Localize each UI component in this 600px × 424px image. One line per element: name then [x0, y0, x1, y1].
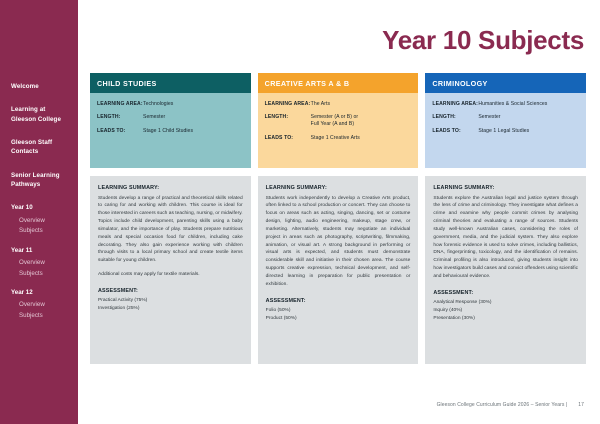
- subject-body: LEARNING SUMMARY: Students develop a ran…: [90, 176, 251, 364]
- sidebar-item-year-12-overview[interactable]: Overview: [19, 300, 78, 309]
- assessment-item: Product (50%): [266, 315, 411, 323]
- meta-label-length: LENGTH:: [432, 114, 478, 121]
- meta-label-learning-area: LEARNING AREA:: [432, 101, 478, 108]
- meta-label-learning-area: LEARNING AREA:: [265, 101, 311, 108]
- learning-summary-label: LEARNING SUMMARY:: [433, 185, 578, 191]
- sidebar-nav: Welcome Learning at Gleeson College Glee…: [0, 0, 78, 424]
- meta-label-length: LENGTH:: [97, 114, 143, 121]
- assessment-item: Presentation (30%): [433, 315, 578, 323]
- subject-body: LEARNING SUMMARY: Students explore the A…: [425, 176, 586, 364]
- sidebar-item-learning-at-gleeson-college[interactable]: Learning at Gleeson College: [11, 105, 78, 124]
- subject-card-header: CRIMINOLOGY: [425, 73, 586, 93]
- sidebar-item-gleeson-staff-contacts[interactable]: Gleeson Staff Contacts: [11, 138, 78, 157]
- footer-page-number: 17: [578, 402, 584, 408]
- meta-row-leads-to: LEADS TO: Stage 1 Creative Arts: [265, 135, 412, 142]
- learning-summary-label: LEARNING SUMMARY:: [266, 185, 411, 191]
- sidebar-group-year-11: Year 11 Overview Subjects: [11, 246, 78, 278]
- sidebar-item-year-10[interactable]: Year 10: [11, 203, 78, 212]
- assessment-label: ASSESSMENT:: [98, 288, 243, 294]
- learning-summary-text: Students explore the Australian legal an…: [433, 195, 578, 281]
- meta-value-length: Semester: [478, 114, 500, 121]
- sidebar-group-year-10: Year 10 Overview Subjects: [11, 203, 78, 235]
- sidebar-item-year-12-subjects[interactable]: Subjects: [19, 311, 78, 320]
- assessment-label: ASSESSMENT:: [433, 290, 578, 296]
- subject-columns: CHILD STUDIES LEARNING AREA: Technologie…: [90, 73, 586, 364]
- meta-row-leads-to: LEADS TO: Stage 1 Legal Studies: [432, 128, 579, 135]
- sidebar-top-items: Welcome Learning at Gleeson College Glee…: [11, 82, 78, 190]
- meta-row-length: LENGTH: Semester (A or B) or Full Year (…: [265, 114, 412, 128]
- sidebar-item-year-10-subjects[interactable]: Subjects: [19, 226, 78, 235]
- meta-value-length: Semester (A or B) or Full Year (A and B): [311, 114, 358, 128]
- meta-row-length: LENGTH: Semester: [432, 114, 579, 121]
- meta-value-leads-to: Stage 1 Creative Arts: [311, 135, 360, 142]
- subject-card-criminology: CRIMINOLOGY LEARNING AREA: Humanities & …: [425, 73, 586, 364]
- meta-row-leads-to: LEADS TO: Stage 1 Child Studies: [97, 128, 244, 135]
- footer-text: Gleeson College Curriculum Guide 2026 – …: [437, 402, 568, 408]
- meta-value-leads-to: Stage 1 Legal Studies: [478, 128, 529, 135]
- meta-value-learning-area: Technologies: [143, 101, 173, 108]
- main-content: Year 10 Subjects CHILD STUDIES LEARNING …: [78, 0, 600, 424]
- meta-row-learning-area: LEARNING AREA: Technologies: [97, 101, 244, 108]
- learning-summary-text: Students work independently to develop a…: [266, 195, 411, 289]
- subject-card-header: CHILD STUDIES: [90, 73, 251, 93]
- meta-row-length: LENGTH: Semester: [97, 114, 244, 121]
- sidebar-item-year-11[interactable]: Year 11: [11, 246, 78, 255]
- learning-summary-label: LEARNING SUMMARY:: [98, 185, 243, 191]
- page-title: Year 10 Subjects: [90, 0, 586, 53]
- meta-value-leads-to: Stage 1 Child Studies: [143, 128, 193, 135]
- learning-summary-text: Students develop a range of practical an…: [98, 195, 243, 266]
- assessment-item: Investigation (25%): [98, 305, 243, 313]
- sidebar-item-senior-learning-pathways[interactable]: Senior Learning Pathways: [11, 171, 78, 190]
- subject-meta: LEARNING AREA: Technologies LENGTH: Seme…: [90, 93, 251, 168]
- meta-label-length: LENGTH:: [265, 114, 311, 128]
- meta-row-learning-area: LEARNING AREA: The Arts: [265, 101, 412, 108]
- sidebar-item-year-12[interactable]: Year 12: [11, 288, 78, 297]
- subject-card-creative-arts: CREATIVE ARTS A & B LEARNING AREA: The A…: [258, 73, 419, 364]
- meta-label-leads-to: LEADS TO:: [265, 135, 311, 142]
- assessment-item: Analytical Response (30%): [433, 299, 578, 307]
- page: Welcome Learning at Gleeson College Glee…: [0, 0, 600, 424]
- page-footer: Gleeson College Curriculum Guide 2026 – …: [437, 402, 584, 408]
- sidebar-item-year-11-overview[interactable]: Overview: [19, 258, 78, 267]
- meta-label-leads-to: LEADS TO:: [97, 128, 143, 135]
- subject-meta: LEARNING AREA: The Arts LENGTH: Semester…: [258, 93, 419, 168]
- subject-card-header: CREATIVE ARTS A & B: [258, 73, 419, 93]
- sidebar-item-year-11-subjects[interactable]: Subjects: [19, 269, 78, 278]
- assessment-item: Inquiry (40%): [433, 307, 578, 315]
- sidebar-group-year-12: Year 12 Overview Subjects: [11, 288, 78, 320]
- meta-value-learning-area: The Arts: [311, 101, 330, 108]
- learning-summary-extra: Additional costs may apply for textile m…: [98, 271, 243, 279]
- subject-card-child-studies: CHILD STUDIES LEARNING AREA: Technologie…: [90, 73, 251, 364]
- sidebar-item-welcome[interactable]: Welcome: [11, 82, 78, 92]
- meta-value-length: Semester: [143, 114, 165, 121]
- sidebar-item-year-10-overview[interactable]: Overview: [19, 216, 78, 225]
- meta-value-learning-area: Humanities & Social Sciences: [478, 101, 547, 108]
- meta-label-learning-area: LEARNING AREA:: [97, 101, 143, 108]
- subject-meta: LEARNING AREA: Humanities & Social Scien…: [425, 93, 586, 168]
- meta-row-learning-area: LEARNING AREA: Humanities & Social Scien…: [432, 101, 579, 108]
- subject-body: LEARNING SUMMARY: Students work independ…: [258, 176, 419, 364]
- assessment-item: Folio (50%): [266, 307, 411, 315]
- assessment-item: Practical Activity (75%): [98, 297, 243, 305]
- meta-label-leads-to: LEADS TO:: [432, 128, 478, 135]
- assessment-label: ASSESSMENT:: [266, 298, 411, 304]
